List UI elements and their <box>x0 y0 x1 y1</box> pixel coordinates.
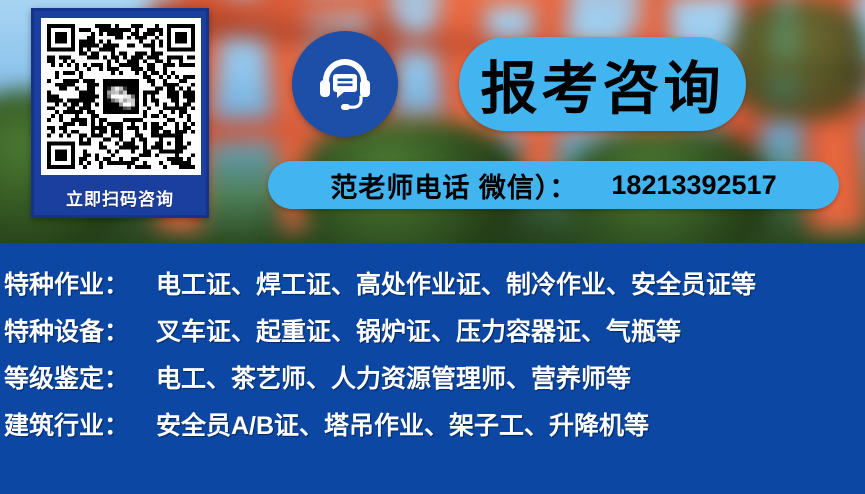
category-value: 电工、茶艺师、人力资源管理师、营养师等 <box>156 359 631 395</box>
phone-number[interactable]: 18213392517 <box>611 170 776 201</box>
list-item: 特种设备： 叉车证、起重证、锅炉证、压力容器证、气瓶等 <box>4 312 865 359</box>
headset-support-icon <box>292 31 398 137</box>
category-value: 电工证、焊工证、高处作业证、制冷作业、安全员证等 <box>156 265 756 301</box>
phone-label: 范老师电话 微信）： <box>330 166 611 205</box>
category-list-panel: 特种作业： 电工证、焊工证、高处作业证、制冷作业、安全员证等 特种设备： 叉车证… <box>0 243 865 494</box>
qr-code-image[interactable] <box>41 18 201 175</box>
category-label: 特种作业： <box>4 265 156 301</box>
category-label: 建筑行业： <box>4 406 156 442</box>
title-pill: 报考咨询 <box>459 37 746 131</box>
category-value: 叉车证、起重证、锅炉证、压力容器证、气瓶等 <box>156 312 681 348</box>
phone-pill[interactable]: 范老师电话 微信）： 18213392517 <box>268 161 839 209</box>
category-label: 特种设备： <box>4 312 156 348</box>
title-pill-text: 报考咨询 <box>481 43 725 125</box>
promo-poster: 立即扫码咨询 报考咨询 范老师电话 微信）： 18213392517 特种作业：… <box>0 0 865 494</box>
sky-patch <box>570 0 640 30</box>
sky-patch <box>390 0 440 20</box>
category-value: 安全员A/B证、塔吊作业、架子工、升降机等 <box>156 406 649 442</box>
category-label: 等级鉴定： <box>4 359 156 395</box>
qr-card[interactable]: 立即扫码咨询 <box>31 8 209 218</box>
list-item: 建筑行业： 安全员A/B证、塔吊作业、架子工、升降机等 <box>4 406 865 453</box>
list-item: 等级鉴定： 电工、茶艺师、人力资源管理师、营养师等 <box>4 359 865 406</box>
qr-canvas <box>47 24 195 169</box>
qr-caption: 立即扫码咨询 <box>34 185 206 210</box>
list-item: 特种作业： 电工证、焊工证、高处作业证、制冷作业、安全员证等 <box>4 265 865 312</box>
foliage <box>730 0 865 120</box>
